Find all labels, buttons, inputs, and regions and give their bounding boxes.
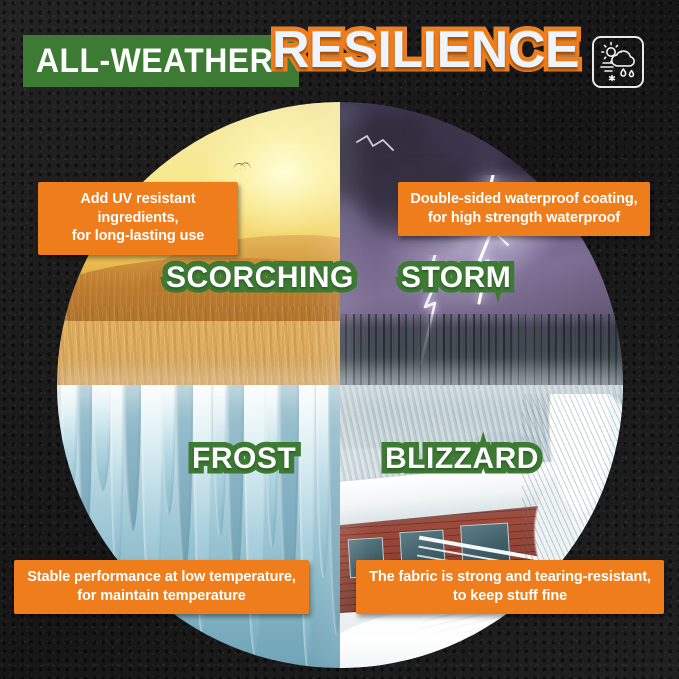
callout-top-right: Double-sided waterproof coating, for hig… bbox=[398, 182, 650, 236]
poster-root: ALL-WEATHER RESILIENCE bbox=[0, 0, 679, 679]
storm-scene bbox=[340, 102, 623, 385]
header: ALL-WEATHER RESILIENCE bbox=[0, 0, 679, 108]
callout-bottom-right: The fabric is strong and tearing-resista… bbox=[356, 560, 664, 614]
icicle-band bbox=[57, 385, 340, 668]
storm-tree-texture bbox=[340, 314, 623, 385]
quadrant-title-blizzard: BLIZZARD bbox=[385, 444, 539, 474]
header-title-secondary: RESILIENCE bbox=[272, 24, 579, 76]
callout-top-left: Add UV resistant ingredients, for long-l… bbox=[38, 182, 238, 255]
quadrant-title-scorching: SCORCHING bbox=[166, 263, 354, 293]
bird-icon bbox=[233, 163, 246, 171]
quadrant-frost bbox=[57, 385, 340, 668]
snow-pine-needle-texture bbox=[522, 394, 623, 658]
callout-bottom-left: Stable performance at low temperature, f… bbox=[14, 560, 309, 614]
quadrant-title-storm: STORM bbox=[401, 263, 511, 293]
header-green-bar: ALL-WEATHER bbox=[23, 35, 299, 87]
quadrant-title-frost: FROST bbox=[192, 444, 296, 474]
lightning-bolt-icon bbox=[355, 134, 395, 160]
storm-treeline bbox=[340, 314, 623, 385]
quadrant-storm bbox=[340, 102, 623, 385]
sand-ripple-texture-fine bbox=[57, 307, 340, 385]
blizzard-scene bbox=[340, 385, 623, 668]
mixed-weather-icon bbox=[592, 36, 644, 88]
quadrant-blizzard bbox=[340, 385, 623, 668]
header-title-primary: ALL-WEATHER bbox=[36, 44, 273, 78]
frost-scene bbox=[57, 385, 340, 668]
header-title-secondary-text: RESILIENCE bbox=[272, 21, 579, 79]
